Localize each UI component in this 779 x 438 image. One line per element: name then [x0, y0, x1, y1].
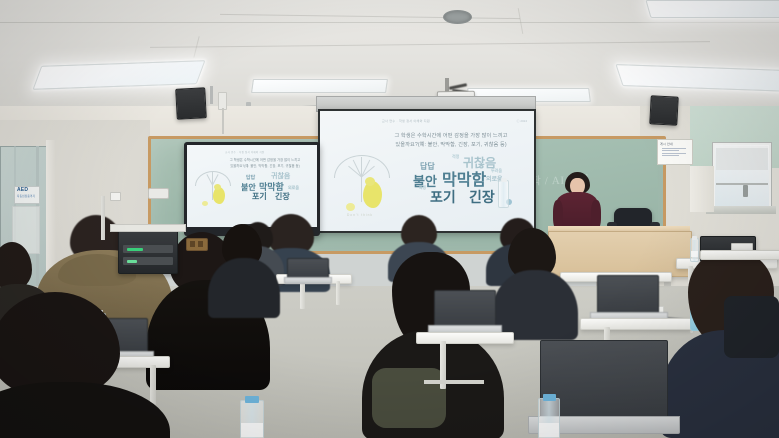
desk-leg	[336, 281, 340, 305]
lectern	[548, 231, 692, 277]
wall-cable	[222, 108, 224, 134]
backpack	[724, 296, 779, 358]
wordcloud-item-geokjeong: 걱정	[452, 155, 459, 159]
monitor-wordcloud-item: 불안	[241, 184, 256, 192]
window-blind[interactable]	[716, 146, 768, 170]
monitor-question-line-2: 있을까요?(예: 불안, 막막함, 긴장, 포기, 귀찮음 등)	[219, 164, 311, 169]
student-desk	[580, 318, 692, 330]
wall-notice-title: 게시 안내	[660, 142, 690, 146]
ceiling-seam	[0, 22, 779, 23]
laptop-screen[interactable]	[597, 275, 659, 315]
classroom-photo-scene: 수학 / AI 수업 학생 정서 이해 수학 / AI 수업 AED 자동심장충…	[0, 0, 779, 438]
wordcloud-item-jjajeung: 짜증	[419, 186, 426, 190]
wordcloud-item-duryeoum: 두려움	[491, 169, 502, 173]
monitor-slide-header: 교사 연수 · 학생 정서 이해와 지원	[225, 150, 264, 154]
ceiling-speaker-icon	[443, 10, 472, 24]
window-rail	[716, 183, 768, 185]
water-bottle	[498, 180, 509, 208]
backpack	[372, 368, 446, 428]
slide-logo: ⓒ 2024	[516, 119, 527, 123]
projection-screen: 교사 연수 · 학생 정서 이해와 지원 ⓒ 2024 그 학생은 수학시간에 …	[318, 109, 536, 233]
water-bottle	[240, 400, 264, 438]
desk-leg	[150, 365, 156, 405]
audience-shoulders	[492, 270, 578, 340]
aed-sign-title: AED	[17, 188, 37, 194]
wall-sensor	[148, 188, 169, 199]
ceiling-light-panel	[645, 0, 779, 18]
student-desk	[700, 250, 779, 260]
window-sill	[706, 206, 776, 214]
wall-switch-plate[interactable]	[110, 192, 121, 201]
desk-crossbar	[424, 380, 484, 384]
wordcloud-item-pogi: 포기	[430, 190, 456, 204]
hair-clip	[186, 238, 208, 251]
student-desk	[416, 332, 514, 344]
projector-mount	[445, 78, 449, 92]
window-reveal	[690, 166, 714, 212]
slide-header: 교사 연수 · 학생 정서 이해와 지원	[382, 119, 430, 123]
desk-leg	[300, 281, 305, 309]
monitor-wordcloud-item: 외로움	[288, 186, 299, 190]
window-handle-icon[interactable]	[743, 185, 748, 197]
wall-speaker-icon	[649, 95, 678, 125]
window	[712, 142, 772, 210]
water-bottle	[538, 398, 560, 438]
ceiling-light-tube	[251, 79, 388, 93]
monitor-umbrella-illustration	[195, 171, 235, 211]
umbrella-illustration: Don't think	[334, 155, 396, 217]
wall-notice: 게시 안내	[657, 139, 693, 165]
aed-sign-sub: 자동심장충격기	[17, 195, 35, 198]
projection-screen-surface: 교사 연수 · 학생 정서 이해와 지원 ⓒ 2024 그 학생은 수학시간에 …	[320, 111, 534, 231]
wall-pipe	[101, 196, 105, 240]
aed-sign: AED 자동심장충격기	[14, 186, 40, 204]
wall-speaker-icon	[175, 87, 207, 120]
av-control-rack[interactable]	[118, 228, 178, 274]
monitor-wordcloud-item: 긴장	[275, 193, 290, 201]
monitor-wordcloud-item: 포기	[252, 193, 267, 201]
laptop-screen[interactable]	[434, 290, 496, 328]
monitor-wordcloud-item: 막막함	[259, 183, 284, 192]
illustration-caption: Don't think	[347, 213, 373, 217]
av-rack-top	[110, 224, 186, 232]
audience-shoulders	[208, 258, 280, 318]
slide-question-line-2: 있을까요?(예: 불안, 막막함, 긴장, 포기, 귀찮음 등)	[374, 141, 528, 149]
slide-question-line-1: 그 학생은 수학시간에 어떤 감정을 가장 많이 느끼고	[374, 132, 528, 140]
water-bottle	[690, 238, 699, 262]
wordcloud-item-ginjang: 긴장	[469, 190, 495, 204]
speaker-bracket	[210, 86, 213, 104]
monitor-question-line-1: 그 학생은 수학시간에 어떤 감정을 가장 많이 느끼고	[219, 158, 311, 163]
monitor-wordcloud-item: 귀찮음	[271, 173, 290, 180]
monitor-wordcloud-item: 답답	[246, 176, 255, 181]
laptop-keyboard[interactable]	[284, 277, 332, 284]
bear-head	[365, 177, 375, 186]
wordcloud-item-makmakham: 막막함	[442, 173, 486, 189]
bear-small	[346, 203, 355, 211]
wordcloud-item-dapdap: 답답	[420, 163, 435, 171]
